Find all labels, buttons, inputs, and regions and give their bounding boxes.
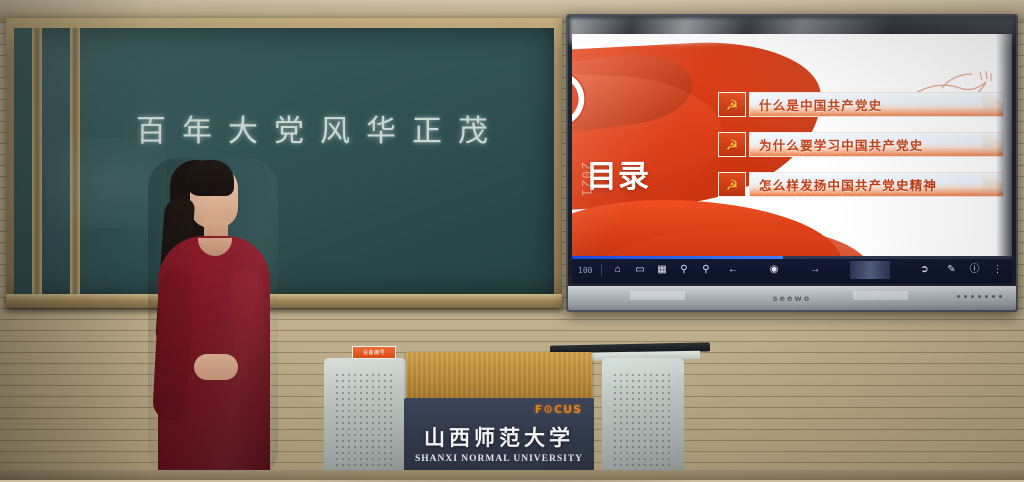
blackboard-slide-rail-2 (70, 28, 80, 296)
display-bottom-bezel: seewo (568, 286, 1016, 310)
presenter (148, 158, 278, 480)
chevron-right-icon (982, 133, 1004, 157)
slide-item[interactable]: ☭ 怎么样发扬中国共产党史精神 (718, 172, 1004, 197)
bezel-vent-left (630, 291, 685, 300)
blackboard-slide-rail-1 (32, 28, 42, 296)
slide-item-label: 什么是中国共产党史 (750, 95, 882, 114)
slide-item-bar: 什么是中国共产党史 (749, 92, 1004, 117)
bookmark-icon[interactable]: ▭ (633, 264, 646, 277)
lectern-speaker-left (324, 358, 406, 480)
equipment-sticker-label: 设备编号 (363, 349, 385, 356)
bezel-button[interactable] (992, 295, 995, 298)
party-flag-icon: ☭ (718, 172, 746, 197)
lectern: 设备编号 F⚙CUS 山西师范大学 SHANXI NORMAL UNIVERSI… (300, 342, 698, 480)
toolbar-left-group: 100 ⌂ ▭ ▦ ⚲ ⚲ (572, 264, 712, 277)
wood-grain (406, 352, 592, 400)
university-name-cn: 山西师范大学 (404, 422, 594, 452)
chevron-right-icon (982, 93, 1004, 117)
more-dots-icon[interactable]: ⋮ (991, 264, 1004, 277)
slide-item-label: 怎么样发扬中国共产党史精神 (750, 175, 937, 194)
university-name-en: SHANXI NORMAL UNIVERSITY (404, 454, 594, 464)
slide-items-list: ☭ 什么是中国共产党史 ☭ 为什么要学习中国共产党史 ☭ 怎么样发扬中国共产党史… (718, 92, 1004, 197)
arrow-right-icon[interactable]: → (809, 264, 822, 277)
bezel-button[interactable] (978, 295, 981, 298)
zoom-out-icon[interactable]: ⚲ (699, 264, 712, 277)
party-flag-icon: ☭ (718, 132, 746, 157)
display-toolbar: 100 ⌂ ▭ ▦ ⚲ ⚲ ← ◉ → ➲ ✎ ⓘ ⋮ (572, 256, 1012, 284)
blackboard-left-panel (14, 28, 32, 296)
bezel-vent-right (853, 291, 908, 300)
slide-section-title: 目录 (586, 162, 650, 194)
blackboard-chalk-title: 百年大党风华正茂 (136, 106, 536, 150)
slide-item-bar: 为什么要学习中国共产党史 (749, 132, 1004, 157)
presenter-hair-front (186, 160, 234, 196)
slide-item-label: 为什么要学习中国共产党史 (750, 135, 923, 154)
blackboard-surface (14, 28, 554, 296)
slide-item-bar: 怎么样发扬中国共产党史精神 (749, 172, 1004, 197)
info-circle-icon[interactable]: ⓘ (968, 264, 981, 277)
lectern-nameplate: F⚙CUS 山西师范大学 SHANXI NORMAL UNIVERSITY (404, 398, 594, 480)
blackboard: 百年大党风华正茂 (6, 18, 562, 308)
lectern-speaker-right (602, 358, 684, 480)
bezel-button[interactable] (964, 295, 967, 298)
grid-icon[interactable]: ▦ (655, 264, 668, 277)
focus-brand-logo: F⚙CUS (535, 403, 582, 416)
edit-square-icon[interactable]: ✎ (945, 264, 958, 277)
bezel-button[interactable] (971, 295, 974, 298)
progress-track[interactable] (572, 256, 1012, 259)
bezel-button[interactable] (999, 295, 1002, 298)
export-icon[interactable]: ➲ (918, 264, 931, 277)
chalk-ledge (6, 294, 562, 308)
slide-scrubber[interactable] (850, 261, 890, 279)
lectern-wood-top (406, 352, 592, 400)
party-flag-icon: ☭ (718, 92, 746, 117)
bezel-button[interactable] (957, 295, 960, 298)
speaker-grille (612, 372, 674, 468)
slide-item[interactable]: ☭ 什么是中国共产党史 (718, 92, 1004, 117)
display-brand-label: seewo (773, 294, 812, 303)
smart-display: ☭ 2021 目录 ☭ 什么是中国共产党史 ☭ 为什么要学习中国共产党史 (566, 14, 1018, 312)
presenter-hands (194, 354, 238, 380)
progress-fill (572, 256, 783, 259)
zoom-level-label: 100 (578, 266, 592, 275)
record-circle-icon[interactable]: ◉ (768, 264, 781, 277)
bezel-button[interactable] (985, 295, 988, 298)
floor-edge (0, 470, 1024, 480)
speaker-grille (334, 372, 396, 468)
display-screen[interactable]: ☭ 2021 目录 ☭ 什么是中国共产党史 ☭ 为什么要学习中国共产党史 (572, 34, 1012, 264)
zoom-in-icon[interactable]: ⚲ (677, 264, 690, 277)
slide-item[interactable]: ☭ 为什么要学习中国共产党史 (718, 132, 1004, 157)
home-icon[interactable]: ⌂ (611, 264, 624, 277)
toolbar-center-group: ← ◉ → ➲ (712, 261, 945, 279)
toolbar-divider (601, 264, 602, 276)
bezel-button-group[interactable] (957, 295, 1002, 298)
equipment-sticker: 设备编号 (352, 346, 396, 359)
chevron-right-icon (982, 173, 1004, 197)
arrow-left-icon[interactable]: ← (727, 264, 740, 277)
toolbar-right-group: ✎ ⓘ ⋮ (945, 264, 1012, 277)
